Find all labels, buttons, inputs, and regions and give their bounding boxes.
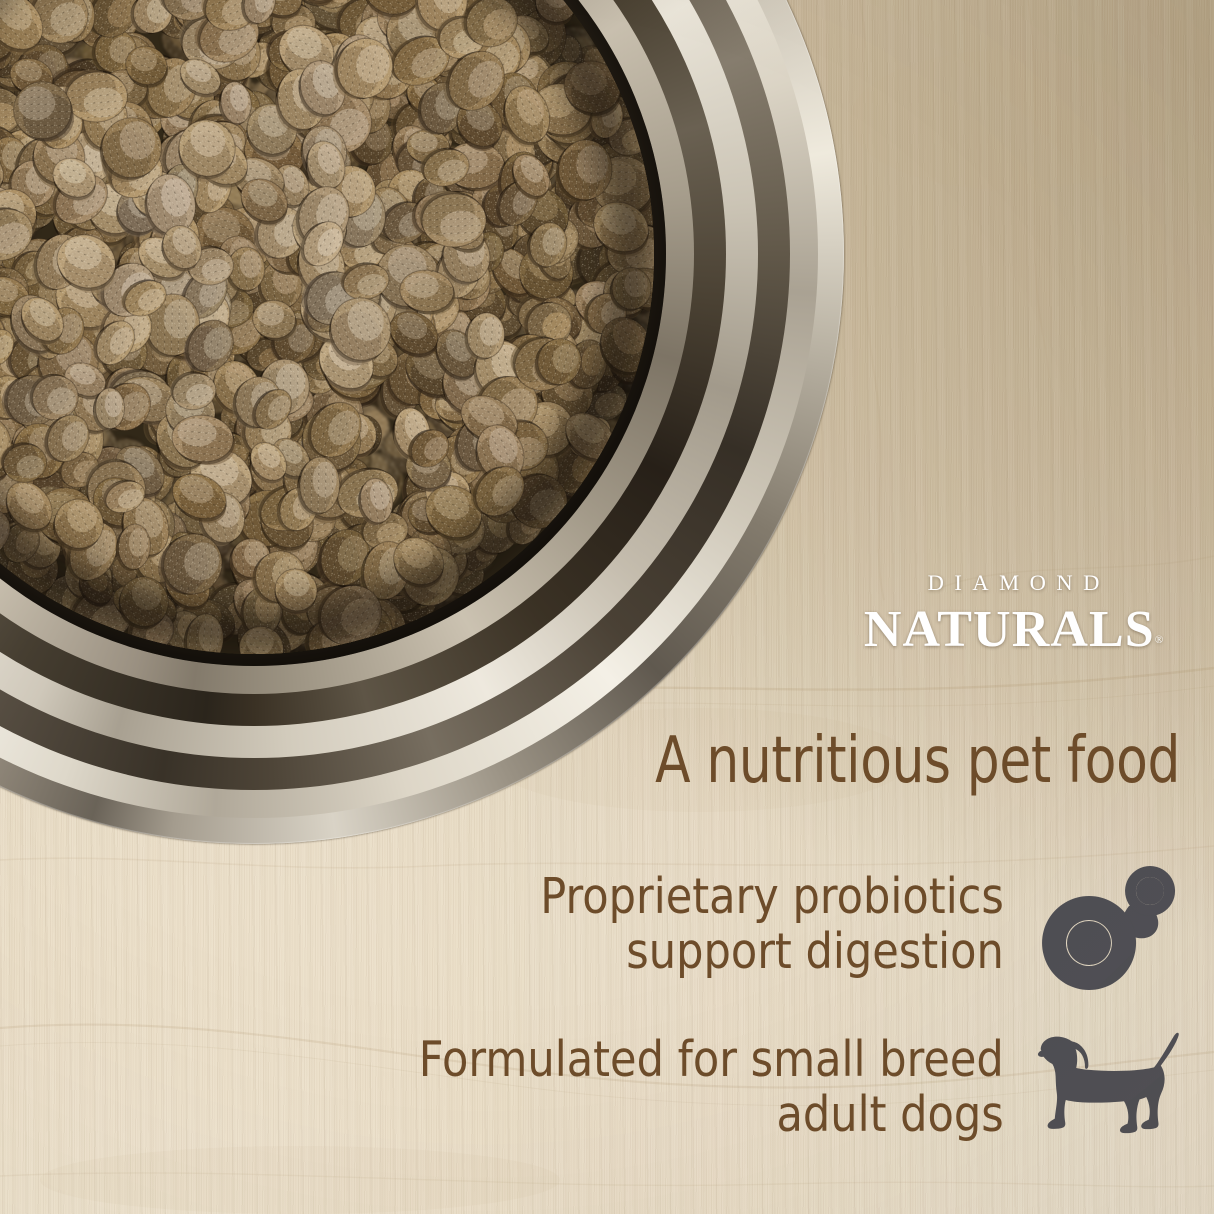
feature-small-breed-line-2: adult dogs [419, 1088, 1004, 1143]
product-feature-image: DIAMOND NATURALS® A nutritious pet food … [0, 0, 1214, 1214]
feature-probiotics-line-1: Proprietary probiotics [540, 870, 1004, 925]
feature-row-probiotics: Proprietary probiotics support digestion [477, 860, 1188, 990]
feature-row-small-breed: Formulated for small breed adult dogs [339, 1028, 1188, 1148]
page-headline: A nutritious pet food [118, 729, 1180, 793]
feature-small-breed-text: Formulated for small breed adult dogs [419, 1033, 1004, 1143]
dachshund-dog-icon [1028, 1028, 1188, 1148]
registered-trademark-mark: ® [1155, 634, 1163, 646]
feature-small-breed-line-1: Formulated for small breed [419, 1033, 1004, 1088]
feature-probiotics-line-2: support digestion [540, 925, 1004, 980]
feature-probiotics-text: Proprietary probiotics support digestion [540, 870, 1004, 980]
brand-name-naturals: NATURALS® [843, 602, 1184, 657]
brand-logo: DIAMOND NATURALS® [843, 572, 1184, 657]
brand-name-diamond: DIAMOND [843, 572, 1184, 595]
probiotic-cells-icon [1028, 860, 1188, 990]
brand-name-naturals-text: NATURALS [864, 601, 1155, 658]
